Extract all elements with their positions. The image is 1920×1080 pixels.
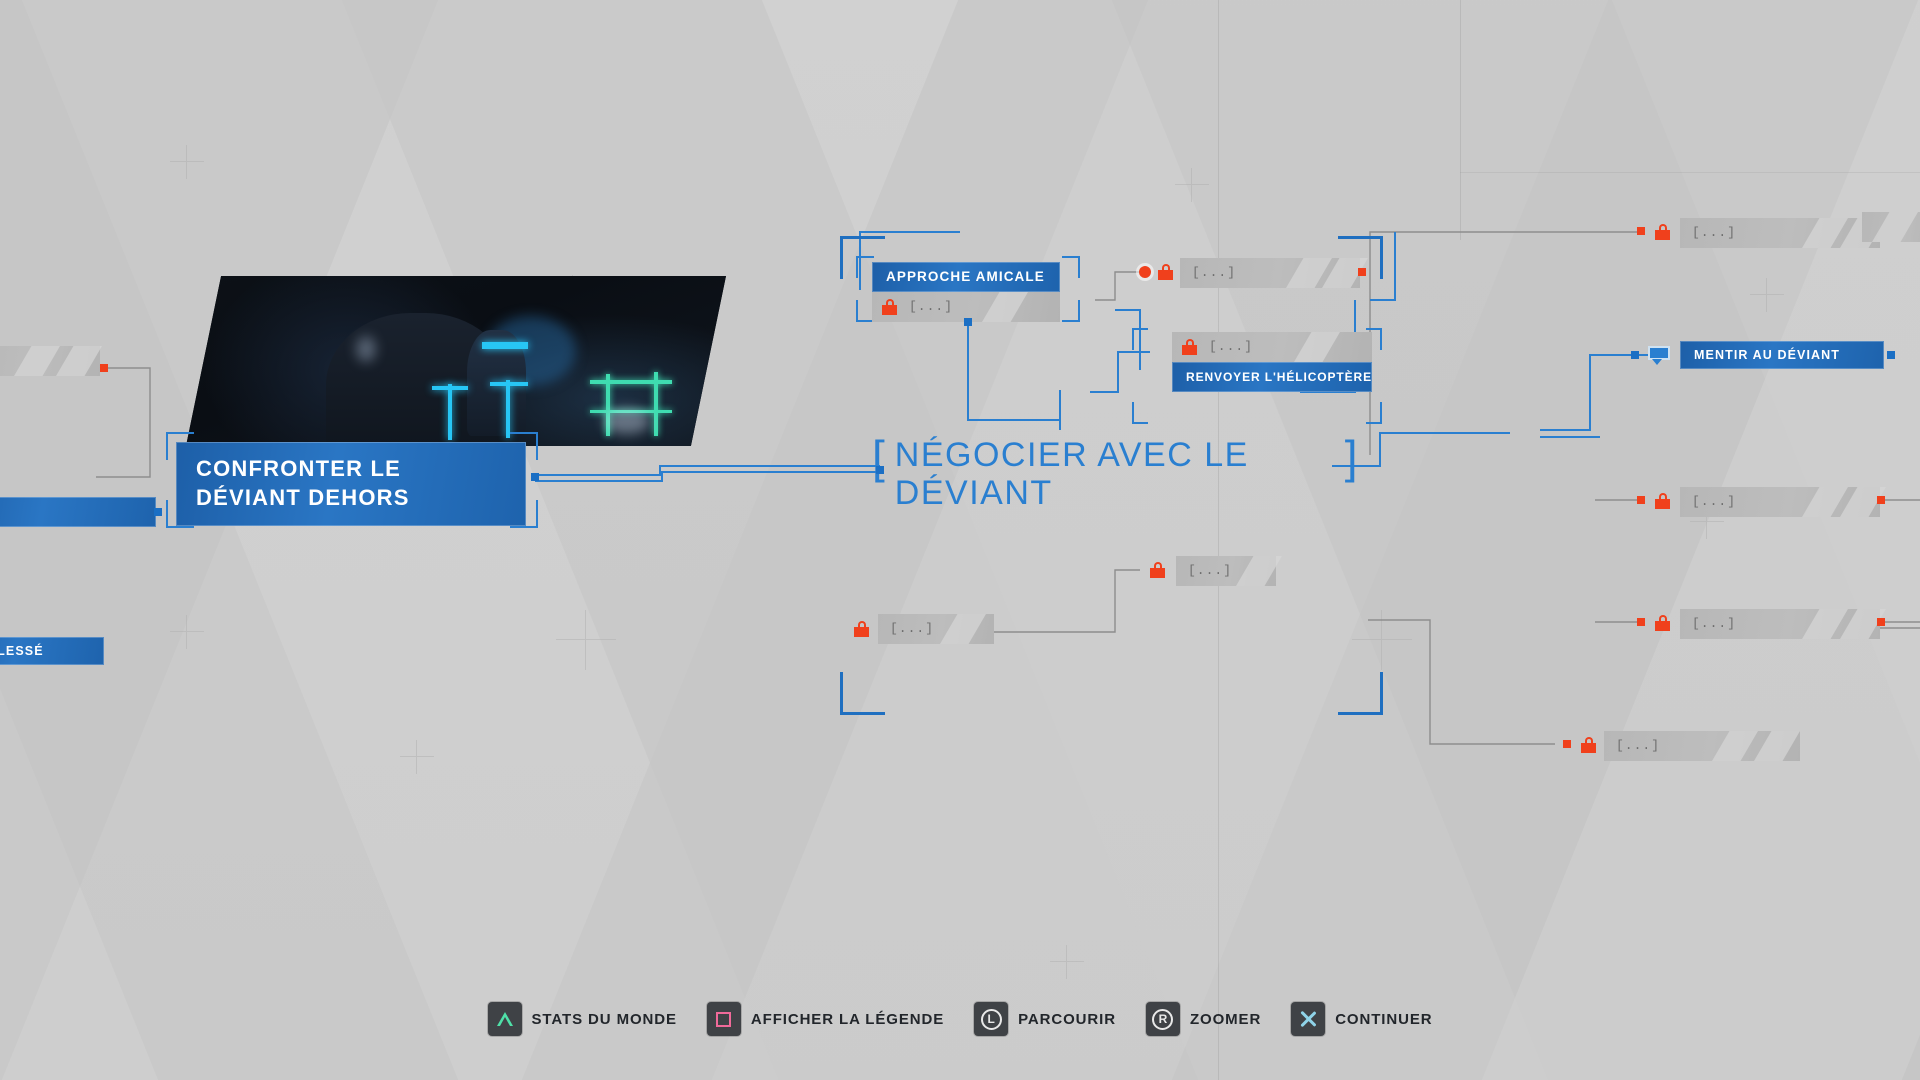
node-renvoyer-helicoptere[interactable]: [...] RENVOYER L'HÉLICOPTÈRE [1172,332,1372,392]
cmd-continuer[interactable]: CONTINUER [1291,1002,1432,1036]
node-sub-label: [...] [1176,556,1232,586]
node-sub-label: [...] [1604,731,1660,761]
square-icon[interactable] [707,1002,741,1036]
group-bracket-bl [840,672,885,715]
scene-thumbnail[interactable] [186,276,726,446]
node-mentir-au-deviant[interactable]: MENTIR AU DÉVIANT [1680,341,1884,369]
connector-dot-blue [1887,351,1895,359]
node-sub-label: [...] [1680,609,1736,639]
selection-bracket-br [510,500,538,528]
node-locked[interactable]: [...] [1680,218,1880,248]
node-sub-label: [...] [1680,487,1736,517]
node-label: APPROCHE AMICALE [886,269,1045,284]
cmd-parcourir[interactable]: L PARCOURIR [974,1002,1116,1036]
connector-dot-blue [531,473,539,481]
connector-wires [0,0,1920,1080]
lock-icon [1158,264,1173,280]
node-sub-label: [...] [1180,258,1236,288]
connector-dot-red [1637,227,1645,235]
connector-dot-blue [1631,351,1639,359]
node-sub-label: [...] [878,614,934,644]
dialogue-icon [1648,346,1670,364]
lock-icon [1150,562,1165,578]
connector-dot-red [1877,496,1885,504]
lock-icon [1581,737,1596,753]
lock-icon [1655,224,1670,240]
left-partial-node-swat[interactable]: VAT BLESSÉ [0,637,104,665]
lock-icon [1655,615,1670,631]
node-label: CONFRONTER LE DÉVIANT DEHORS [176,442,526,526]
node-negocier-avec-le-deviant[interactable]: [ NÉGOCIER AVEC LE DÉVIANT ] [872,436,1358,512]
connector-dot-blue [964,318,972,326]
node-locked[interactable]: [...] [1604,731,1800,761]
selection-bracket-tl [166,432,194,460]
branch-badge-icon [847,276,867,294]
cmd-label: STATS DU MONDE [532,1011,677,1028]
connector-dot-red [1637,618,1645,626]
left-locked-node[interactable] [0,346,100,376]
connector-dot-red [100,364,108,372]
inner-bracket-tl [1132,328,1148,350]
node-locked-edge[interactable] [1862,212,1920,242]
connector-dot-blue [154,508,162,516]
node-label: NÉGOCIER AVEC LE DÉVIANT [885,436,1345,512]
selection-bracket-bl [166,500,194,528]
triangle-icon[interactable] [488,1002,522,1036]
cmd-label: CONTINUER [1335,1011,1432,1028]
node-sub-label: [...] [1680,218,1736,248]
connector-dot-red [1877,618,1885,626]
lock-icon [882,299,897,315]
connector-pin-red [1139,266,1151,278]
connector-dot-blue [876,466,884,474]
node-label: VAT BLESSÉ [0,644,44,658]
inner-bracket-bl [1132,402,1148,424]
node-locked[interactable]: [...] [1680,487,1880,517]
l-button-icon[interactable]: L [974,1002,1008,1036]
node-approche-amicale[interactable]: APPROCHE AMICALE [...] [872,262,1060,322]
branch-badge-icon [1148,349,1168,367]
lock-icon [1655,493,1670,509]
connector-dot-red [1358,268,1366,276]
inner-bracket-br [1366,402,1382,424]
junction-hub-icon[interactable] [1512,420,1538,442]
connector-dot-red [1563,740,1571,748]
cmd-label: PARCOURIR [1018,1011,1116,1028]
node-label: MENTIR AU DÉVIANT [1694,348,1840,362]
flowchart-canvas[interactable]: TIR VAT BLESSÉ CONFRONTER LE DÉVIANT DEH… [0,0,1920,1080]
node-locked[interactable]: [...] [1176,556,1276,586]
connector-dot-red [1637,496,1645,504]
lock-icon [1182,339,1197,355]
node-label: RENVOYER L'HÉLICOPTÈRE [1186,370,1372,384]
left-partial-node-tir[interactable]: TIR [0,497,156,527]
inner-bracket-tr [1062,256,1080,278]
cmd-label: ZOOMER [1190,1011,1261,1028]
node-sub-label: [...] [1197,332,1253,362]
node-confronter-le-deviant-dehors[interactable]: CONFRONTER LE DÉVIANT DEHORS [176,442,526,526]
group-bracket-br [1338,672,1383,715]
cmd-stats-du-monde[interactable]: STATS DU MONDE [488,1002,677,1036]
node-locked[interactable]: [...] [878,614,994,644]
cmd-zoomer[interactable]: R ZOOMER [1146,1002,1261,1036]
inner-bracket-br [1062,300,1080,322]
cross-icon[interactable] [1291,1002,1325,1036]
node-locked[interactable]: [...] [1180,258,1360,288]
command-bar: STATS DU MONDE AFFICHER LA LÉGENDE L PAR… [0,1002,1920,1036]
node-locked[interactable]: [...] [1680,609,1880,639]
node-sub-label: [...] [897,292,953,322]
cmd-afficher-la-legende[interactable]: AFFICHER LA LÉGENDE [707,1002,944,1036]
r-button-icon[interactable]: R [1146,1002,1180,1036]
lock-icon [854,621,869,637]
cmd-label: AFFICHER LA LÉGENDE [751,1011,944,1028]
selection-bracket-tr [510,432,538,460]
